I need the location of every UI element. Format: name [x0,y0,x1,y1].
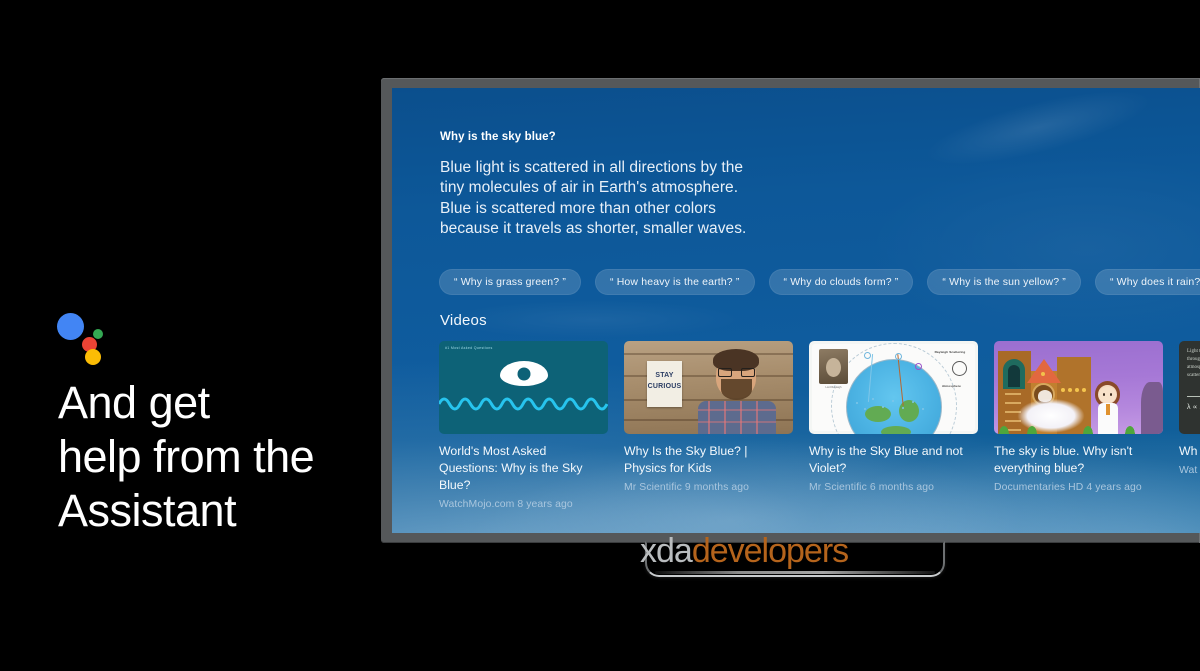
presenter-plaid-shirt [698,401,776,434]
chalk-underline [1187,396,1200,397]
vent-lights [1061,388,1086,392]
video-title[interactable]: World's Most Asked Questions: Why is the… [439,443,608,494]
suggestion-chip[interactable]: “ Why is grass green? ” [439,269,581,295]
assistant-answer-card: Why is the sky blue? Blue light is scatt… [440,131,840,239]
video-title[interactable]: Why Is the Sky Blue? | Physics for Kids [624,443,793,477]
assistant-query-text: Why is the sky blue? [440,131,840,143]
headline-line-3: Assistant [58,484,378,538]
roof-triangle [1027,359,1061,383]
videos-shelf[interactable]: #1 Most Asked Questions World's Most Ask… [439,341,1200,510]
video-meta: Documentaries HD 4 years ago [994,482,1163,493]
promo-panel: And get help from the Assistant [0,0,380,671]
molecule-icon [895,353,902,360]
video-card[interactable]: Rayleigh Scattering Atmosphere Lord Rayl… [809,341,978,510]
headline-line-1: And get [58,376,378,430]
video-meta: Mr Scientific 9 months ago [624,482,793,493]
molecule-icon [864,352,871,359]
shelf-title: Videos [440,312,487,329]
grass-tuft [1080,421,1096,434]
promo-headline: And get help from the Assistant [58,376,378,538]
plank-line [624,353,793,355]
answer-line-2: tiny molecules of air in Earth's atmosph… [440,178,840,198]
video-title[interactable]: The sky is blue. Why isn't everything bl… [994,443,1163,477]
grass-tuft [1024,421,1040,434]
chalkboard-scribbles: Light travelsthrough theatmospherescatte… [1187,348,1200,380]
sign-line-2: CURIOUS [647,383,682,390]
whiteboard: Rayleigh Scattering Atmosphere Lord Rayl… [812,344,975,431]
grass-tuft [996,421,1012,434]
roof-light [1041,372,1045,376]
google-assistant-logo [57,311,113,363]
assistant-dot-blue [57,313,84,340]
video-thumbnail[interactable]: STAY CURIOUS [624,341,793,434]
diagram-callout: Atmosphere [942,384,961,388]
watermark-developers: developers [692,532,848,570]
video-title[interactable]: Wh [1179,443,1200,460]
video-thumbnail[interactable]: Light travelsthrough theatmospherescatte… [1179,341,1200,434]
assistant-dot-green [93,329,103,339]
answer-line-4: because it travels as shorter, smaller w… [440,219,840,239]
headline-line-2: help from the [58,430,378,484]
video-meta: Wat [1179,465,1200,476]
video-title[interactable]: Why is the Sky Blue and not Violet? [809,443,978,477]
thumbnail-watermark: #1 Most Asked Questions [445,346,493,351]
video-card[interactable]: #1 Most Asked Questions World's Most Ask… [439,341,608,510]
television: Why is the sky blue? Blue light is scatt… [381,78,1200,543]
watermark-xda: xda [640,532,692,570]
waveform-graphic [439,393,608,415]
doorway-arch [1003,359,1025,389]
stay-curious-sign: STAY CURIOUS [647,361,682,407]
presenter-beard [721,379,752,400]
portrait-caption: Lord Rayleigh [817,386,850,389]
assistant-answer-text: Blue light is scattered in all direction… [440,158,840,239]
stand-highlight [655,571,935,574]
video-card[interactable]: STAY CURIOUS Why Is the Sky B [624,341,793,510]
character-tie [1106,404,1110,415]
sign-line-1: STAY [647,372,682,379]
video-meta: Mr Scientific 6 months ago [809,482,978,493]
character-face [1099,387,1116,403]
grass-tuft [1122,421,1138,434]
xda-developers-watermark: xdadevelopers [640,531,950,571]
glasses-icon [718,368,755,377]
diagram-heading: Rayleigh Scattering [933,350,967,354]
suggestion-chip[interactable]: “ Why do clouds form? ” [769,269,914,295]
scientist-portrait [819,349,848,384]
suggestion-chip[interactable]: “ Why does it rain? ” [1095,269,1200,295]
chalk-equation: λ ∝ 1/λ⁴ [1187,403,1200,411]
answer-line-1: Blue light is scattered in all direction… [440,158,840,178]
inset-circle [952,361,967,376]
suggestion-chip[interactable]: “ Why is the sun yellow? ” [927,269,1081,295]
assistant-dot-yellow [85,349,101,365]
video-card[interactable]: Light travelsthrough theatmospherescatte… [1179,341,1200,510]
screenshot-stage: And get help from the Assistant Why is t… [0,0,1200,671]
answer-line-3: Blue is scattered more than other colors [440,199,840,219]
video-thumbnail[interactable]: #1 Most Asked Questions [439,341,608,434]
video-meta: WatchMojo.com 8 years ago [439,499,608,510]
eye-icon [500,361,548,386]
tv-screen: Why is the sky blue? Blue light is scatt… [392,88,1200,533]
video-card[interactable]: The sky is blue. Why isn't everything bl… [994,341,1163,510]
suggestion-chips-row[interactable]: “ Why is grass green? ” “ How heavy is t… [439,269,1200,295]
suggestion-chip[interactable]: “ How heavy is the earth? ” [595,269,755,295]
video-thumbnail[interactable] [994,341,1163,434]
video-thumbnail[interactable]: Rayleigh Scattering Atmosphere Lord Rayl… [809,341,978,434]
molecule-icon [915,363,922,370]
rock-shape [1141,382,1163,434]
